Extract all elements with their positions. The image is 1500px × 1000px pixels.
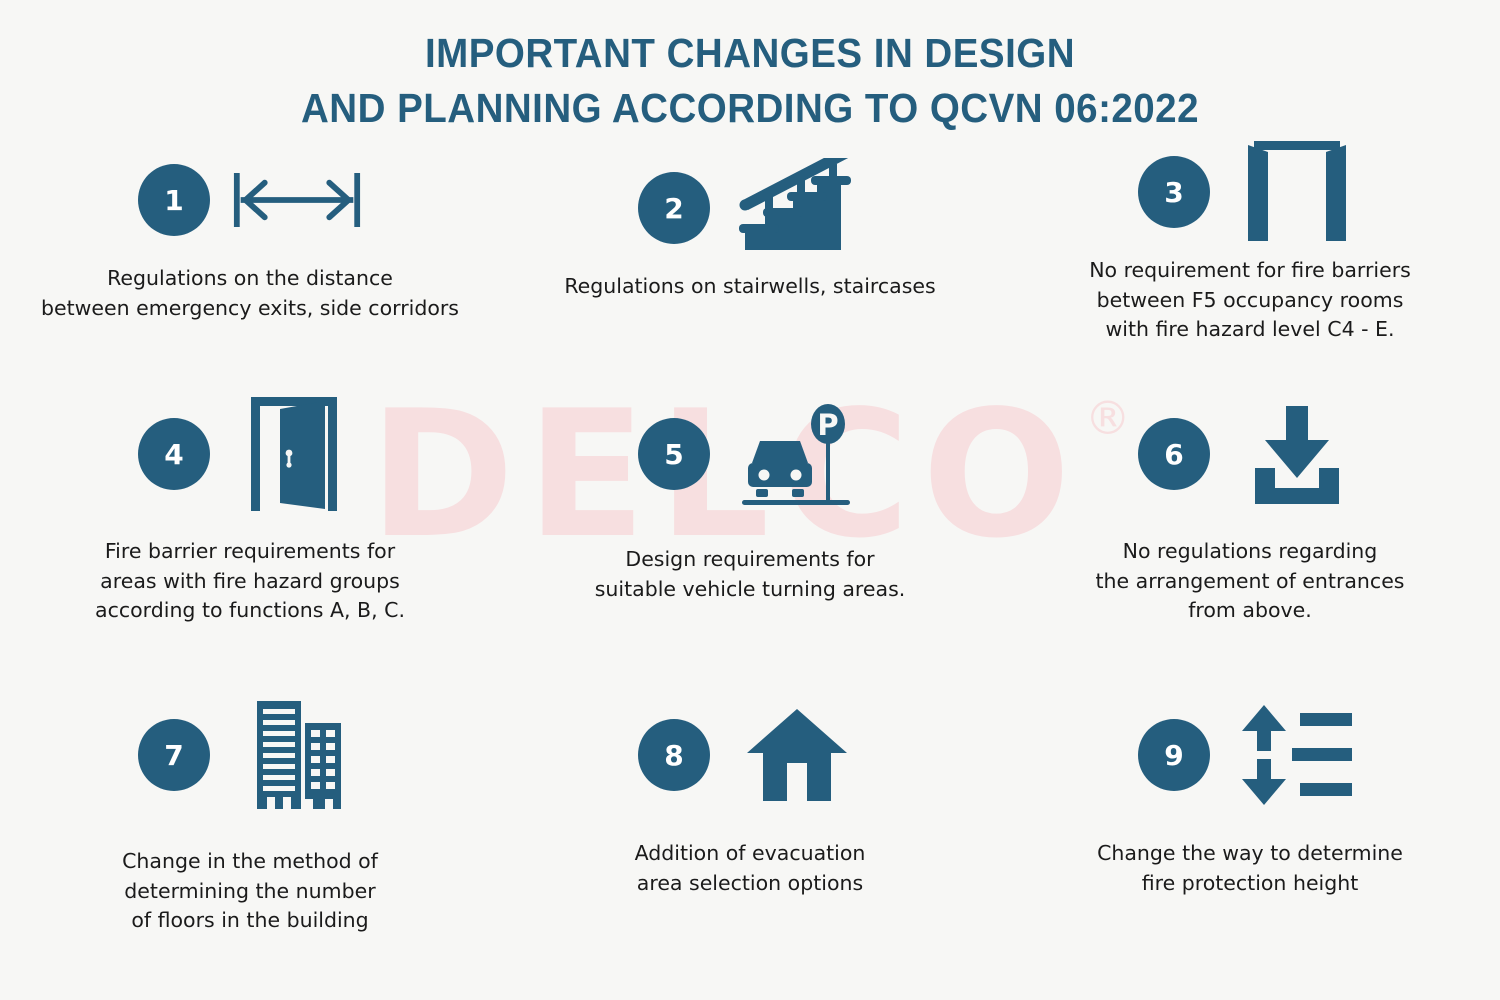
page-title: IMPORTANT CHANGES IN DESIGN AND PLANNING… <box>0 26 1500 137</box>
item-2-header: 2 <box>638 158 862 258</box>
svg-text:P: P <box>817 408 838 442</box>
item-3-header: 3 <box>1138 142 1362 242</box>
item-7-caption: Change in the method of determining the … <box>122 847 378 936</box>
item-5-caption: Design requirements for suitable vehicle… <box>595 545 906 604</box>
item-1-header: 1 <box>138 150 362 250</box>
buildings-icon <box>232 703 362 808</box>
page-title-line-2: AND PLANNING ACCORDING TO QCVN 06:2022 <box>45 81 1455 136</box>
item-2-number-badge: 2 <box>638 172 710 244</box>
item-card-8: 8 Addition of evacuation area selection … <box>500 695 1000 1000</box>
item-8-caption: Addition of evacuation area selection op… <box>635 839 866 898</box>
item-card-7: 7 <box>0 695 500 1000</box>
line-height-icon <box>1232 703 1362 808</box>
item-7-number-badge: 7 <box>138 719 210 791</box>
staircase-icon <box>732 156 862 261</box>
item-9-number-badge: 9 <box>1138 719 1210 791</box>
item-1-number-badge: 1 <box>138 164 210 236</box>
item-8-number-badge: 8 <box>638 719 710 791</box>
open-double-door-icon <box>1232 140 1362 245</box>
item-8-header: 8 <box>638 695 862 815</box>
item-1-caption: Regulations on the distance between emer… <box>41 264 459 323</box>
item-9-caption: Change the way to determine fire protect… <box>1097 839 1403 898</box>
open-door-icon <box>232 402 362 507</box>
car-parking-sign-icon: P <box>732 402 862 507</box>
item-6-header: 6 <box>1138 395 1362 513</box>
item-4-caption: Fire barrier requirements for areas with… <box>95 537 405 626</box>
item-6-caption: No regulations regarding the arrangement… <box>1096 537 1405 626</box>
item-5-header: 5 <box>638 395 862 513</box>
item-card-1: 1 Regulations on the distance between em… <box>0 150 500 395</box>
item-4-number-badge: 4 <box>138 418 210 490</box>
item-card-5: 5 <box>500 395 1000 695</box>
item-card-3: 3 No requirement for fire barriers betwe… <box>1000 150 1500 395</box>
item-card-6: 6 No regulations regarding the arrangeme… <box>1000 395 1500 695</box>
item-7-header: 7 <box>138 695 362 815</box>
item-3-caption: No requirement for fire barriers between… <box>1089 256 1411 345</box>
item-2-caption: Regulations on stairwells, staircases <box>564 272 935 302</box>
item-9-header: 9 <box>1138 695 1362 815</box>
page-title-line-1: IMPORTANT CHANGES IN DESIGN <box>45 26 1455 81</box>
item-card-4: 4 <box>0 395 500 695</box>
item-card-9: 9 Change the way to determine fir <box>1000 695 1500 1000</box>
item-5-number-badge: 5 <box>638 418 710 490</box>
house-icon <box>732 703 862 808</box>
item-card-2: 2 <box>500 150 1000 395</box>
item-3-number-badge: 3 <box>1138 156 1210 228</box>
download-arrow-tray-icon <box>1232 402 1362 507</box>
item-4-header: 4 <box>138 395 362 513</box>
changes-grid: 1 Regulations on the distance between em… <box>0 150 1500 1000</box>
item-6-number-badge: 6 <box>1138 418 1210 490</box>
distance-arrow-icon <box>232 148 362 253</box>
